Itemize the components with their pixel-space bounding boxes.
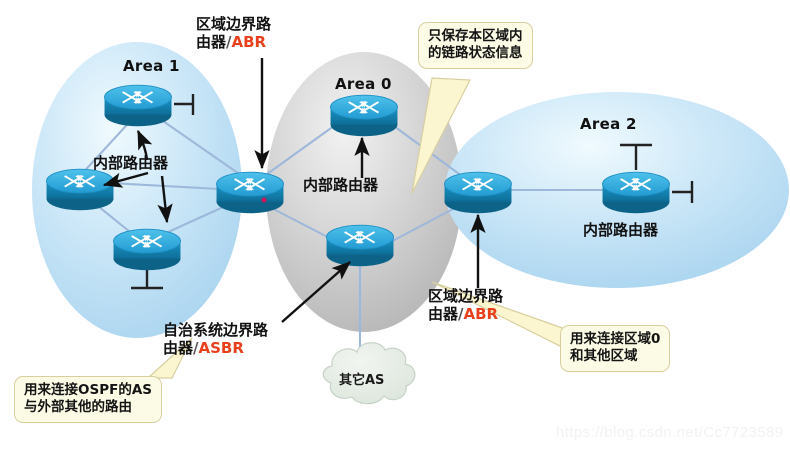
label-asbr: 自治系统边界路 由器/ASBR xyxy=(163,322,268,357)
callout-asbr-line1: 用来连接OSPF的AS xyxy=(24,382,152,399)
callout-lsdb-line1: 只保存本区域内 xyxy=(428,28,523,45)
ospf-area-diagram: Area 1 Area 0 Area 2 内部路由器 内部路由器 内部路由器 区… xyxy=(0,0,790,454)
callout-lsdb-line2: 的链路状态信息 xyxy=(428,45,523,62)
callout-asbr: 用来连接OSPF的AS 与外部其他的路由 xyxy=(14,376,162,423)
callout-asbr-line2: 与外部其他的路由 xyxy=(24,399,152,416)
label-internal-router-area1: 内部路由器 xyxy=(93,155,168,173)
callout-abr-line1: 用来连接区域0 xyxy=(570,331,660,348)
area-label-area1: Area 1 xyxy=(123,57,180,75)
area-label-area2: Area 2 xyxy=(580,115,637,133)
label-internal-router-area0: 内部路由器 xyxy=(303,177,378,195)
label-asbr-acronym: ASBR xyxy=(199,339,244,357)
label-abr-bottom-line2-cn: 由器 xyxy=(428,305,458,323)
label-abr-top-line1: 区域边界路 xyxy=(196,15,271,33)
label-abr-bottom-line1: 区域边界路 xyxy=(428,287,503,305)
label-asbr-line2-cn: 由器 xyxy=(163,339,193,357)
callout-abr-line2: 和其他区域 xyxy=(570,348,660,365)
label-internal-router-area2: 内部路由器 xyxy=(583,222,658,240)
csdn-watermark: https://blog.csdn.net/Cc7723589 xyxy=(556,424,784,441)
label-abr-top-line2-cn: 由器 xyxy=(196,33,226,51)
router-area0-top xyxy=(331,95,398,136)
label-abr-top: 区域边界路 由器/ABR xyxy=(196,16,271,51)
router-abr-area0-area2 xyxy=(445,172,512,213)
label-abr-top-acronym: ABR xyxy=(232,33,267,51)
callout-abr: 用来连接区域0 和其他区域 xyxy=(560,325,670,372)
router-abr-area1-area0 xyxy=(217,172,284,213)
label-abr-bottom: 区域边界路 由器/ABR xyxy=(428,288,503,323)
area-label-area0: Area 0 xyxy=(335,75,392,93)
callout-lsdb: 只保存本区域内 的链路状态信息 xyxy=(418,22,533,69)
label-other-as: 其它AS xyxy=(339,369,384,388)
router-area1-left xyxy=(47,169,114,210)
label-abr-bottom-acronym: ABR xyxy=(464,305,499,323)
router-asbr-area0 xyxy=(327,225,394,266)
label-asbr-line1: 自治系统边界路 xyxy=(163,321,268,339)
